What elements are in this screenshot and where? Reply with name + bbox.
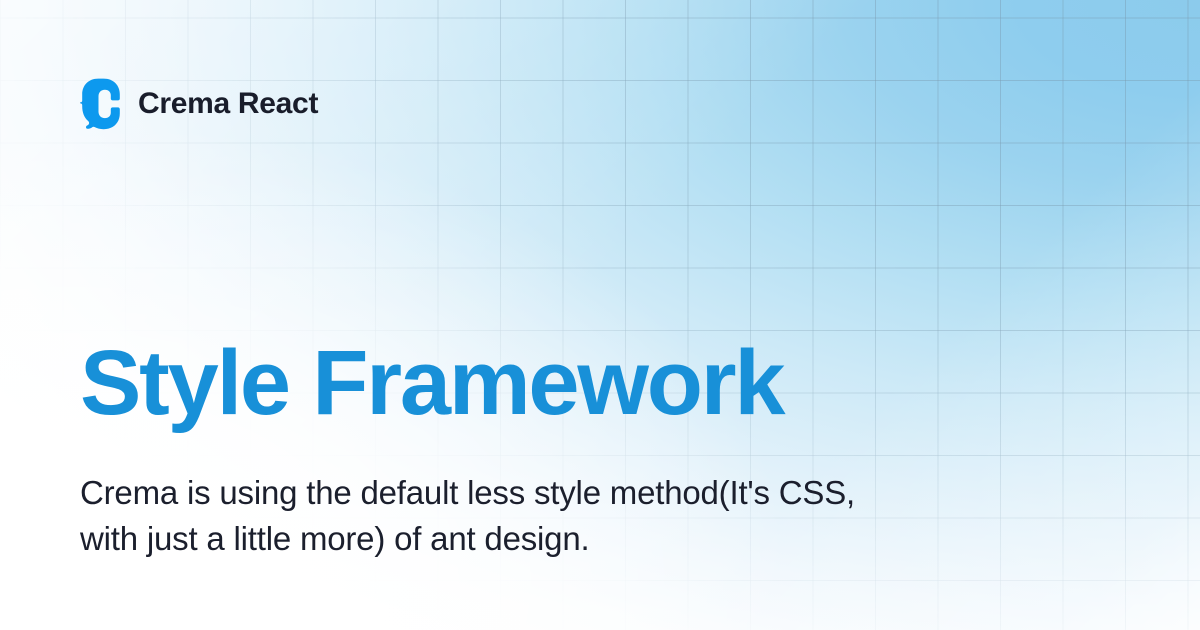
page-title: Style Framework (80, 336, 783, 432)
brand-name-label: Crema React (138, 89, 318, 119)
card-content: Crema React Style Framework Crema is usi… (0, 0, 1200, 630)
crema-c-logo-icon (80, 78, 120, 130)
og-card: Crema React Style Framework Crema is usi… (0, 0, 1200, 630)
page-description: Crema is using the default less style me… (80, 470, 880, 561)
brand-lockup: Crema React (80, 78, 318, 130)
